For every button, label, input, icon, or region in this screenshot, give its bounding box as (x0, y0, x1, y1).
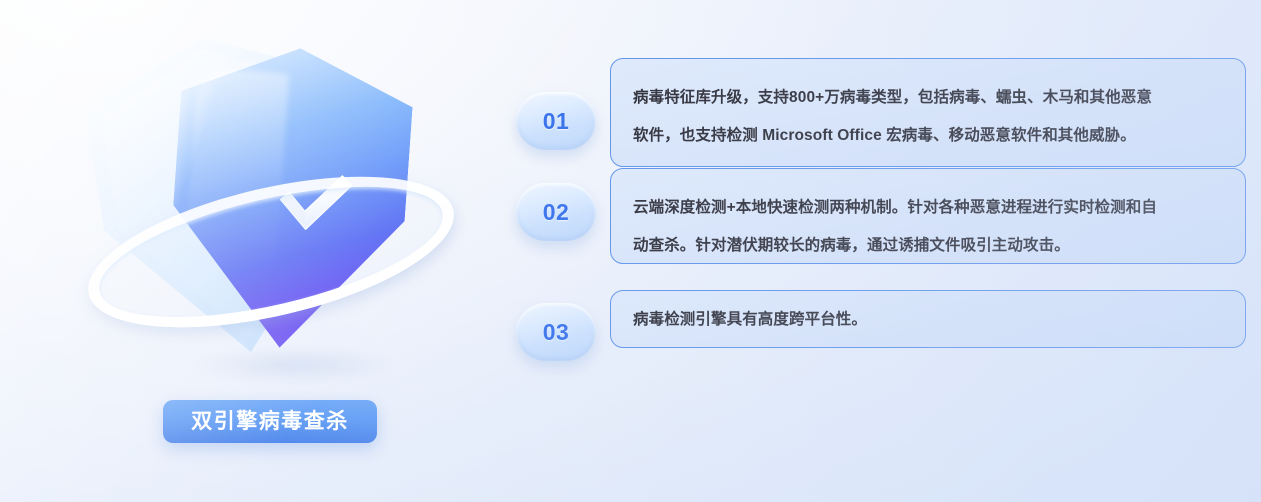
feature-number-badge-02: 02 (516, 183, 596, 241)
shield-graphic (78, 26, 470, 398)
feature-card-text-02: 云端深度检测+本地快速检测两种机制。针对各种恶意进程进行实时检测和自 动查杀。针… (633, 189, 1223, 265)
dual-engine-virus-scan-label[interactable]: 双引擎病毒查杀 (163, 400, 377, 443)
feature-number-01: 01 (543, 110, 570, 133)
feature-card-text-01: 病毒特征库升级，支持800+万病毒类型，包括病毒、蠕虫、木马和其他恶意 软件，也… (633, 79, 1223, 155)
feature-number-02: 02 (543, 201, 570, 224)
feature-number-badge-03: 03 (516, 303, 596, 361)
feature-item-03: 03 病毒检测引擎具有高度跨平台性。 (516, 303, 1246, 403)
feature-card-02: 云端深度检测+本地快速检测两种机制。针对各种恶意进程进行实时检测和自 动查杀。针… (610, 168, 1246, 264)
feature-item-02: 02 云端深度检测+本地快速检测两种机制。针对各种恶意进程进行实时检测和自 动查… (516, 168, 1246, 303)
feature-list: 01 病毒特征库升级，支持800+万病毒类型，包括病毒、蠕虫、木马和其他恶意 软… (516, 50, 1246, 403)
shield-ground-shadow (188, 348, 398, 382)
label-button-text: 双引擎病毒查杀 (191, 411, 349, 432)
page-root: 双引擎病毒查杀 01 病毒特征库升级，支持800+万病毒类型，包括病毒、蠕虫、木… (0, 0, 1261, 502)
feature-number-03: 03 (543, 321, 570, 344)
feature-card-03: 病毒检测引擎具有高度跨平台性。 (610, 290, 1246, 348)
feature-number-badge-01: 01 (516, 92, 596, 150)
feature-card-text-03: 病毒检测引擎具有高度跨平台性。 (633, 308, 1223, 332)
feature-card-01: 病毒特征库升级，支持800+万病毒类型，包括病毒、蠕虫、木马和其他恶意 软件，也… (610, 58, 1246, 167)
feature-item-01: 01 病毒特征库升级，支持800+万病毒类型，包括病毒、蠕虫、木马和其他恶意 软… (516, 50, 1246, 168)
shield-illustration (78, 26, 470, 398)
